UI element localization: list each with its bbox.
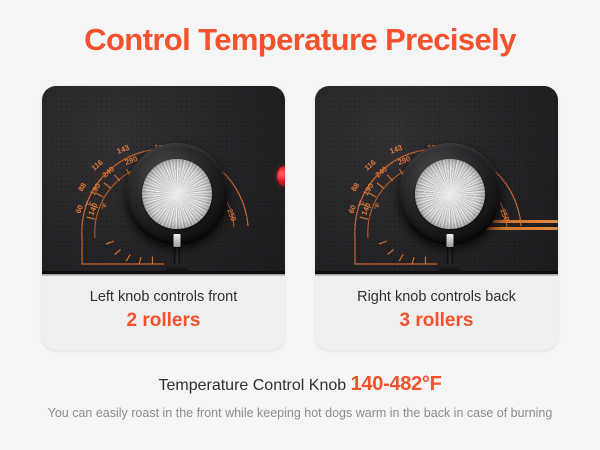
left-knob-photo: 60 °C 140 °F 88 116 143 171 199 227 250 …: [42, 86, 285, 276]
power-indicator-lamp-icon: [277, 166, 285, 186]
knob-shaft-base: [439, 264, 461, 274]
knob-shaft-base: [166, 264, 188, 274]
knob-pointer-notch: [447, 234, 454, 247]
dial-inner-num-0: 190: [88, 182, 102, 198]
temperature-control-knob[interactable]: [399, 143, 501, 245]
promo-page: Control Temperature Precisely: [0, 0, 600, 450]
knob-metal-face: [142, 159, 212, 229]
right-knob-card: 60 °C 140 °F 88 116 143 171 199 227 250 …: [315, 86, 558, 350]
dial-inner-num-0: 190: [361, 182, 375, 198]
footer-primary-line: Temperature Control Knob 140-482°F: [0, 372, 600, 397]
dial-outer-num-2: 143: [388, 143, 403, 156]
knob-metal-face: [415, 159, 485, 229]
knob-cards-container: 60 °C 140 °F 88 116 143 171 199 227 250 …: [42, 86, 558, 350]
left-knob-card: 60 °C 140 °F 88 116 143 171 199 227 250 …: [42, 86, 285, 350]
right-card-caption: Right knob controls back 3 rollers: [315, 276, 558, 350]
dial-outer-num-0: 88: [349, 181, 361, 193]
dial-outer-num-0: 88: [76, 181, 88, 193]
appliance-bottom-edge: [315, 271, 558, 276]
footer-temperature-range: 140-482°F: [351, 373, 442, 395]
right-knob-photo: 60 °C 140 °F 88 116 143 171 199 227 250 …: [315, 86, 558, 276]
left-caption-description: Left knob controls front: [90, 289, 238, 306]
left-caption-highlight: 2 rollers: [127, 310, 201, 333]
dial-outer-num-2: 143: [115, 143, 130, 156]
dial-outer-num-6: 250: [225, 207, 238, 222]
temperature-control-knob[interactable]: [126, 143, 228, 245]
right-caption-description: Right knob controls back: [357, 289, 516, 306]
page-title: Control Temperature Precisely: [0, 22, 600, 58]
right-caption-highlight: 3 rollers: [400, 310, 474, 333]
footer-knob-label: Temperature Control Knob: [158, 377, 346, 394]
knob-pointer-notch: [174, 234, 181, 247]
footer-text-block: Temperature Control Knob 140-482°F You c…: [0, 372, 600, 421]
footer-subtext: You can easily roast in the front while …: [0, 405, 600, 421]
left-card-caption: Left knob controls front 2 rollers: [42, 276, 285, 350]
appliance-bottom-edge: [42, 271, 285, 276]
